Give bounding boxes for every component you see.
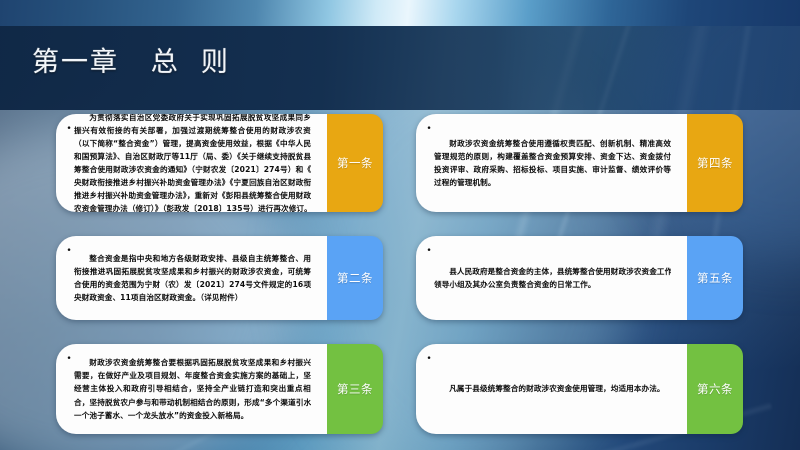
clause-card-6-tag[interactable]: 第六条 — [687, 344, 743, 434]
clause-card-3-tag[interactable]: 第三条 — [327, 344, 383, 434]
clause-card-1-body: • 为贯彻落实自治区党委政府关于实现巩固拓展脱贫攻坚成果同乡村振兴有效衔接的有关… — [56, 114, 327, 212]
clause-card-1[interactable]: • 为贯彻落实自治区党委政府关于实现巩固拓展脱贫攻坚成果同乡村振兴有效衔接的有关… — [56, 114, 383, 212]
clause-card-6-body: • 凡属于县级统筹整合的财政涉农资金使用管理，均适用本办法。 — [416, 344, 687, 434]
clause-card-1-tag[interactable]: 第一条 — [327, 114, 383, 212]
clause-card-6-text: 凡属于县级统筹整合的财政涉农资金使用管理，均适用本办法。 — [434, 382, 679, 395]
slide-canvas: 第一章 总 则 • 为贯彻落实自治区党委政府关于实现巩固拓展脱贫攻坚成果同乡村振… — [0, 0, 800, 450]
top-accent-band — [0, 0, 800, 26]
clause-card-2-body: • 整合资金是指中央和地方各级财政安排、县级自主统筹整合、用于衔接推进巩固拓展脱… — [56, 236, 327, 320]
clause-card-2-tag[interactable]: 第二条 — [327, 236, 383, 320]
clause-card-2-text: 整合资金是指中央和地方各级财政安排、县级自主统筹整合、用于衔接推进巩固拓展脱贫攻… — [74, 252, 319, 304]
clause-card-5-text: 县人民政府是整合资金的主体，县统筹整合使用财政涉农资金工作领导小组及其办公室负责… — [434, 265, 679, 291]
clause-card-5-tag[interactable]: 第五条 — [687, 236, 743, 320]
page-title: 第一章 总 则 — [32, 40, 230, 79]
clause-card-3-text: 财政涉农资金统筹整合要根据巩固拓展脱贫攻坚成果和乡村振兴的需要，在做好产业及项目… — [74, 356, 319, 421]
bullet-icon: • — [64, 355, 74, 364]
clause-card-4-body: • 财政涉农资金统筹整合使用遵循权责匹配、创新机制、精准高效、管理规范的原则，构… — [416, 114, 687, 212]
clause-card-5[interactable]: • 县人民政府是整合资金的主体，县统筹整合使用财政涉农资金工作领导小组及其办公室… — [416, 236, 743, 320]
bullet-icon: • — [64, 125, 74, 134]
clause-card-2[interactable]: • 整合资金是指中央和地方各级财政安排、县级自主统筹整合、用于衔接推进巩固拓展脱… — [56, 236, 383, 320]
clause-card-6[interactable]: • 凡属于县级统筹整合的财政涉农资金使用管理，均适用本办法。 第六条 — [416, 344, 743, 434]
bullet-icon: • — [64, 247, 74, 256]
clause-card-4-tag[interactable]: 第四条 — [687, 114, 743, 212]
clause-card-4[interactable]: • 财政涉农资金统筹整合使用遵循权责匹配、创新机制、精准高效、管理规范的原则，构… — [416, 114, 743, 212]
clause-card-4-text: 财政涉农资金统筹整合使用遵循权责匹配、创新机制、精准高效、管理规范的原则，构建覆… — [434, 137, 679, 189]
clause-card-3[interactable]: • 财政涉农资金统筹整合要根据巩固拓展脱贫攻坚成果和乡村振兴的需要，在做好产业及… — [56, 344, 383, 434]
bullet-icon: • — [424, 247, 434, 256]
bullet-icon: • — [424, 125, 434, 134]
bullet-icon: • — [424, 355, 434, 364]
clause-card-1-text: 为贯彻落实自治区党委政府关于实现巩固拓展脱贫攻坚成果同乡村振兴有效衔接的有关部署… — [74, 114, 319, 212]
clause-card-5-body: • 县人民政府是整合资金的主体，县统筹整合使用财政涉农资金工作领导小组及其办公室… — [416, 236, 687, 320]
clause-card-3-body: • 财政涉农资金统筹整合要根据巩固拓展脱贫攻坚成果和乡村振兴的需要，在做好产业及… — [56, 344, 327, 434]
